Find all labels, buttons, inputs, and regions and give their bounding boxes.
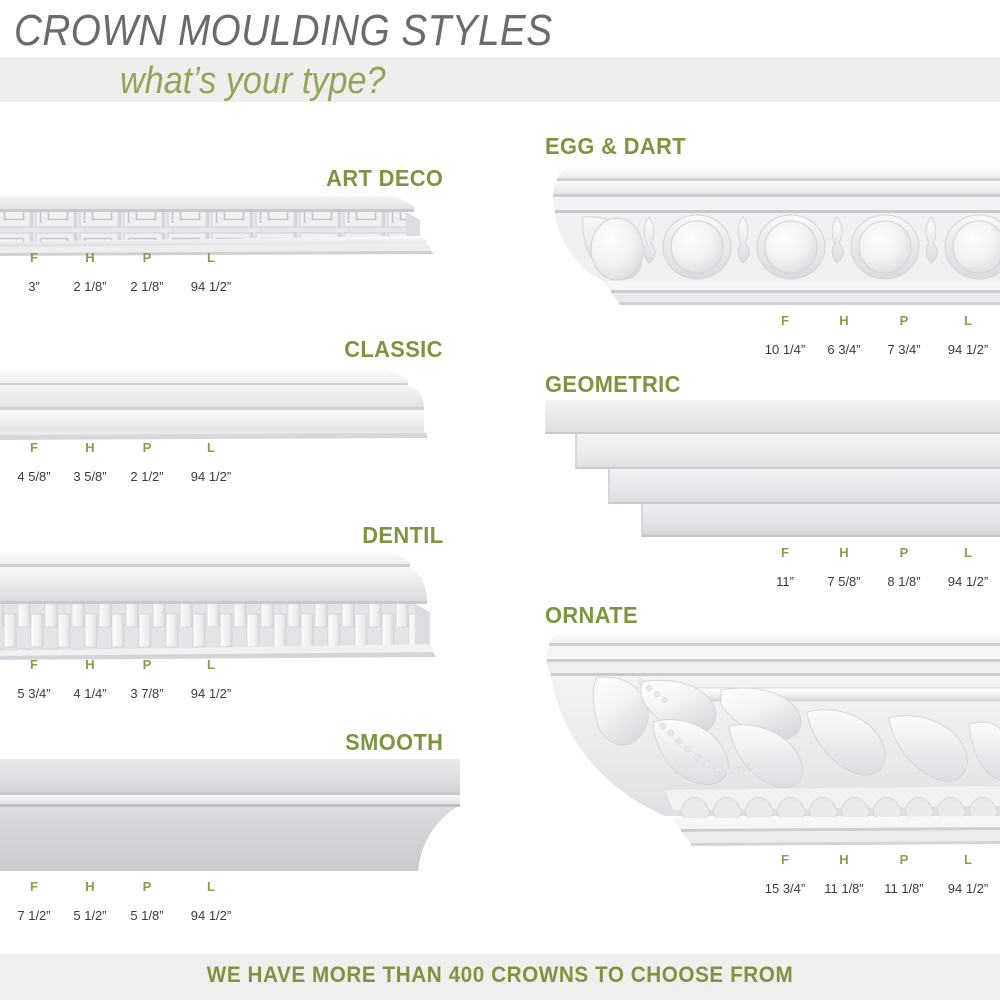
- specs-art-deco: F3”H2 1/8”P2 1/8”L94 1/2”: [6, 250, 246, 294]
- spec-value-h: 6 3/4”: [815, 342, 873, 357]
- spec-value-p: 3 7/8”: [118, 686, 176, 701]
- spec-value-h: 4 1/4”: [62, 686, 118, 701]
- specs-geometric: F11”H7 5/8”P8 1/8”L94 1/2”: [755, 545, 1000, 589]
- spec-column-h: H2 1/8”: [62, 250, 118, 294]
- specs-smooth: F7 1/2”H5 1/2”P5 1/8”L94 1/2”: [6, 879, 246, 923]
- spec-key-p: P: [873, 545, 935, 560]
- spec-column-h: H11 1/8”: [815, 852, 873, 896]
- spec-column-p: P3 7/8”: [118, 657, 176, 701]
- style-title-egg-and-dart: EGG & DART: [545, 133, 686, 160]
- spec-column-p: P2 1/2”: [118, 440, 176, 484]
- spec-column-h: H5 1/2”: [62, 879, 118, 923]
- spec-column-l: L94 1/2”: [176, 657, 246, 701]
- spec-value-l: 94 1/2”: [176, 686, 246, 701]
- spec-column-f: F11”: [755, 545, 815, 589]
- spec-value-h: 3 5/8”: [62, 469, 118, 484]
- style-title-geometric: GEOMETRIC: [545, 371, 681, 398]
- spec-key-f: F: [6, 879, 62, 894]
- spec-column-h: H6 3/4”: [815, 313, 873, 357]
- moulding-art-smooth: [0, 759, 465, 884]
- footer-tagline: WE HAVE MORE THAN 400 CROWNS TO CHOOSE F…: [30, 962, 970, 988]
- style-title-dentil: DENTIL: [362, 522, 443, 549]
- spec-key-h: H: [62, 440, 118, 455]
- moulding-art-egg-and-dart: [545, 163, 1000, 308]
- page-subtitle: what’s your type?: [120, 60, 386, 102]
- spec-value-h: 7 5/8”: [815, 574, 873, 589]
- spec-value-f: 15 3/4”: [755, 881, 815, 896]
- spec-key-l: L: [176, 657, 246, 672]
- spec-column-f: F15 3/4”: [755, 852, 815, 896]
- spec-key-f: F: [755, 545, 815, 560]
- spec-column-p: P5 1/8”: [118, 879, 176, 923]
- spec-column-p: P8 1/8”: [873, 545, 935, 589]
- spec-key-p: P: [118, 440, 176, 455]
- moulding-art-dentil: [0, 552, 445, 662]
- spec-column-l: L94 1/2”: [176, 250, 246, 294]
- spec-key-f: F: [6, 657, 62, 672]
- spec-column-f: F7 1/2”: [6, 879, 62, 923]
- spec-value-l: 94 1/2”: [935, 574, 1000, 589]
- specs-egg-and-dart: F10 1/4”H6 3/4”P7 3/4”L94 1/2”: [755, 313, 1000, 357]
- spec-column-p: P7 3/4”: [873, 313, 935, 357]
- spec-key-l: L: [935, 313, 1000, 328]
- spec-value-p: 2 1/8”: [118, 279, 176, 294]
- spec-value-h: 2 1/8”: [62, 279, 118, 294]
- spec-key-h: H: [62, 879, 118, 894]
- spec-value-h: 5 1/2”: [62, 908, 118, 923]
- spec-key-p: P: [873, 852, 935, 867]
- spec-column-l: L94 1/2”: [935, 313, 1000, 357]
- spec-column-l: L94 1/2”: [935, 545, 1000, 589]
- spec-column-h: H4 1/4”: [62, 657, 118, 701]
- spec-key-p: P: [118, 657, 176, 672]
- spec-key-l: L: [176, 250, 246, 265]
- specs-classic: F4 5/8”H3 5/8”P2 1/2”L94 1/2”: [6, 440, 246, 484]
- spec-key-f: F: [6, 250, 62, 265]
- spec-column-l: L94 1/2”: [176, 879, 246, 923]
- spec-key-l: L: [935, 545, 1000, 560]
- spec-value-f: 4 5/8”: [6, 469, 62, 484]
- spec-column-f: F4 5/8”: [6, 440, 62, 484]
- spec-column-f: F10 1/4”: [755, 313, 815, 357]
- spec-value-p: 2 1/2”: [118, 469, 176, 484]
- specs-dentil: F5 3/4”H4 1/4”P3 7/8”L94 1/2”: [6, 657, 246, 701]
- page-title: CROWN MOULDING STYLES: [14, 8, 552, 54]
- moulding-art-classic: [0, 366, 445, 446]
- spec-key-h: H: [815, 545, 873, 560]
- spec-value-l: 94 1/2”: [935, 342, 1000, 357]
- spec-value-l: 94 1/2”: [176, 908, 246, 923]
- spec-column-p: P11 1/8”: [873, 852, 935, 896]
- spec-value-f: 10 1/4”: [755, 342, 815, 357]
- spec-key-f: F: [755, 313, 815, 328]
- specs-ornate: F15 3/4”H11 1/8”P11 1/8”L94 1/2”: [755, 852, 1000, 896]
- spec-value-f: 5 3/4”: [6, 686, 62, 701]
- spec-key-l: L: [176, 440, 246, 455]
- spec-key-h: H: [815, 313, 873, 328]
- spec-key-p: P: [118, 250, 176, 265]
- spec-value-p: 8 1/8”: [873, 574, 935, 589]
- spec-value-p: 5 1/8”: [118, 908, 176, 923]
- spec-value-f: 3”: [6, 279, 62, 294]
- moulding-art-art-deco: [0, 196, 445, 256]
- spec-key-h: H: [62, 657, 118, 672]
- spec-value-p: 11 1/8”: [873, 881, 935, 896]
- spec-value-l: 94 1/2”: [176, 469, 246, 484]
- spec-value-l: 94 1/2”: [176, 279, 246, 294]
- spec-column-l: L94 1/2”: [176, 440, 246, 484]
- spec-key-p: P: [118, 879, 176, 894]
- moulding-art-ornate: [545, 630, 1000, 850]
- spec-column-p: P2 1/8”: [118, 250, 176, 294]
- spec-value-h: 11 1/8”: [815, 881, 873, 896]
- spec-key-h: H: [815, 852, 873, 867]
- spec-key-f: F: [755, 852, 815, 867]
- spec-value-f: 7 1/2”: [6, 908, 62, 923]
- spec-key-f: F: [6, 440, 62, 455]
- moulding-art-geometric: [545, 398, 1000, 543]
- spec-key-p: P: [873, 313, 935, 328]
- spec-value-l: 94 1/2”: [935, 881, 1000, 896]
- spec-column-l: L94 1/2”: [935, 852, 1000, 896]
- spec-column-h: H7 5/8”: [815, 545, 873, 589]
- spec-column-f: F5 3/4”: [6, 657, 62, 701]
- spec-value-f: 11”: [755, 574, 815, 589]
- spec-key-l: L: [176, 879, 246, 894]
- style-title-classic: CLASSIC: [344, 336, 443, 363]
- spec-key-h: H: [62, 250, 118, 265]
- style-title-art-deco: ART DECO: [326, 165, 443, 192]
- spec-value-p: 7 3/4”: [873, 342, 935, 357]
- style-title-smooth: SMOOTH: [345, 729, 443, 756]
- infographic-page: CROWN MOULDING STYLES what’s your type? …: [0, 0, 1000, 1000]
- spec-column-f: F3”: [6, 250, 62, 294]
- spec-key-l: L: [935, 852, 1000, 867]
- spec-column-h: H3 5/8”: [62, 440, 118, 484]
- style-title-ornate: ORNATE: [545, 602, 638, 629]
